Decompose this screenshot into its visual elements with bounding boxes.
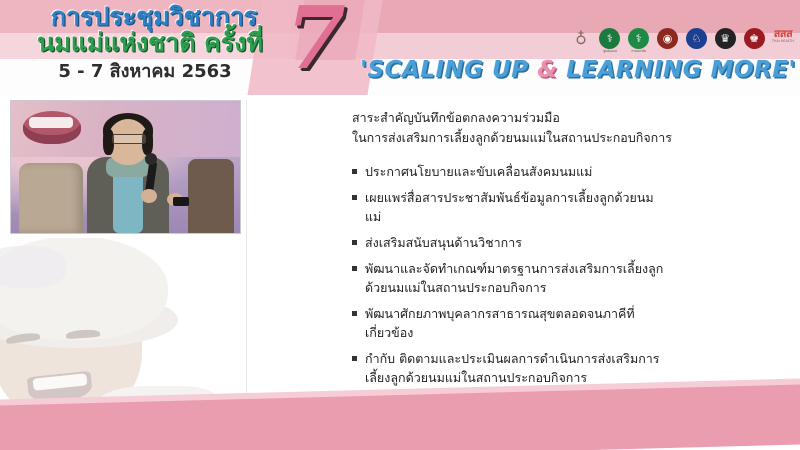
list-item: พัฒนาศักยภาพบุคลากรสาธารณสุขตลอดจนภาคีที…: [352, 304, 782, 342]
banner-date: 5 - 7 สิงหาคม 2563: [20, 60, 270, 84]
ministry-public-health-logo: ⚕ กรมอนามัย: [626, 28, 652, 58]
university-emblem-icon: ♘: [686, 28, 707, 49]
bullet-square-icon: [352, 356, 357, 361]
banner-tagline: 'SCALING UP & LEARNING MORE': [360, 57, 790, 83]
health-department-icon: ⚕: [628, 28, 649, 49]
sss-wordmark: สสส: [774, 28, 793, 39]
banner-title-line2: นมแม่แห่งชาติ ครั้งที่: [14, 28, 286, 58]
speaker-video-frame: [10, 100, 241, 234]
banner-edition-number: 7: [286, 0, 346, 82]
presenter-remote: [173, 197, 189, 206]
medical-cross-icon: ⚕: [599, 28, 620, 49]
list-item: ส่งเสริมสนับสนุนด้านวิชาการ: [352, 233, 782, 252]
slide-content: สาระสำคัญบันทึกข้อตกลงความร่วมมือ ในการส…: [352, 108, 782, 394]
bullet-square-icon: [352, 169, 357, 174]
tagline-suffix: LEARNING MORE': [558, 57, 796, 83]
bullet-text: พัฒนาศักยภาพบุคลากรสาธารณสุขตลอดจนภาคีที…: [365, 304, 665, 342]
bullet-text: ประกาศนโยบายและขับเคลื่อนสังคมนมแม่: [365, 162, 592, 181]
conference-banner: การประชุมวิชาการ นมแม่แห่งชาติ ครั้งที่ …: [0, 0, 800, 95]
armchair-left: [19, 163, 83, 233]
royal-seal-icon: ♁: [571, 28, 592, 49]
bullet-square-icon: [352, 311, 357, 316]
mahidol-university-logo: ♛: [712, 28, 738, 58]
mahidol-emblem-icon: ♛: [715, 28, 736, 49]
royal-seal-logo: ♁: [568, 28, 594, 58]
tagline-ampersand: &: [537, 57, 558, 83]
content-divider: [246, 100, 247, 418]
microphone-head: [145, 153, 157, 165]
bullet-square-icon: [352, 195, 357, 200]
breastfeeding-centre-caption: ศูนย์นมแม่: [603, 50, 617, 53]
thaihealth-sss-logo: สสส THAI HEALTH: [770, 28, 796, 58]
content-bullet-list: ประกาศนโยบายและขับเคลื่อนสังคมนมแม่ เผยแ…: [352, 162, 782, 387]
speaker-eyeglasses: [112, 134, 146, 144]
bullet-text: เผยแพร่สื่อสารประชาสัมพันธ์ข้อมูลการเลี้…: [365, 188, 665, 226]
bullet-text: กำกับ ติดตามและประเมินผลการดำเนินการส่งเ…: [365, 349, 665, 387]
content-heading-line-1: สาระสำคัญบันทึกข้อตกลงความร่วมมือ: [352, 108, 782, 128]
bullet-text: ส่งเสริมสนับสนุนด้านวิชาการ: [365, 233, 522, 252]
list-item: พัฒนาและจัดทำเกณฑ์มาตรฐานการส่งเสริมการเ…: [352, 259, 782, 297]
thai-breastfeeding-centre-logo: ⚕ ศูนย์นมแม่: [597, 28, 623, 58]
national-institute-logo: ♚: [741, 28, 767, 58]
bullet-text: พัฒนาและจัดทำเกณฑ์มาตรฐานการส่งเสริมการเ…: [365, 259, 665, 297]
backdrop-teeth-graphic: [29, 117, 73, 128]
tagline-prefix: 'SCALING UP: [360, 57, 537, 83]
bullet-square-icon: [352, 266, 357, 271]
bullet-square-icon: [352, 240, 357, 245]
thaihealth-caption: THAI HEALTH: [772, 39, 794, 43]
royal-college-icon: ◉: [657, 28, 678, 49]
speaker-hand-left: [141, 189, 157, 203]
health-department-caption: กรมอนามัย: [631, 50, 646, 53]
university-emblem-logo: ♘: [683, 28, 709, 58]
royal-college-logo: ◉: [655, 28, 681, 58]
presentation-slide: การประชุมวิชาการ นมแม่แห่งชาติ ครั้งที่ …: [0, 0, 800, 450]
child-hat-band: [0, 246, 66, 288]
list-item: ประกาศนโยบายและขับเคลื่อนสังคมนมแม่: [352, 162, 782, 181]
armchair-right: [188, 159, 234, 233]
sponsor-logo-row: ♁ ⚕ ศูนย์นมแม่ ⚕ กรมอนามัย ◉ ♘ ♛ ♚: [568, 26, 796, 60]
content-heading-line-2: ในการส่งเสริมการเลี้ยงลูกด้วยนมแม่ในสถาน…: [352, 128, 782, 148]
list-item: เผยแพร่สื่อสารประชาสัมพันธ์ข้อมูลการเลี้…: [352, 188, 782, 226]
national-institute-icon: ♚: [744, 28, 765, 49]
